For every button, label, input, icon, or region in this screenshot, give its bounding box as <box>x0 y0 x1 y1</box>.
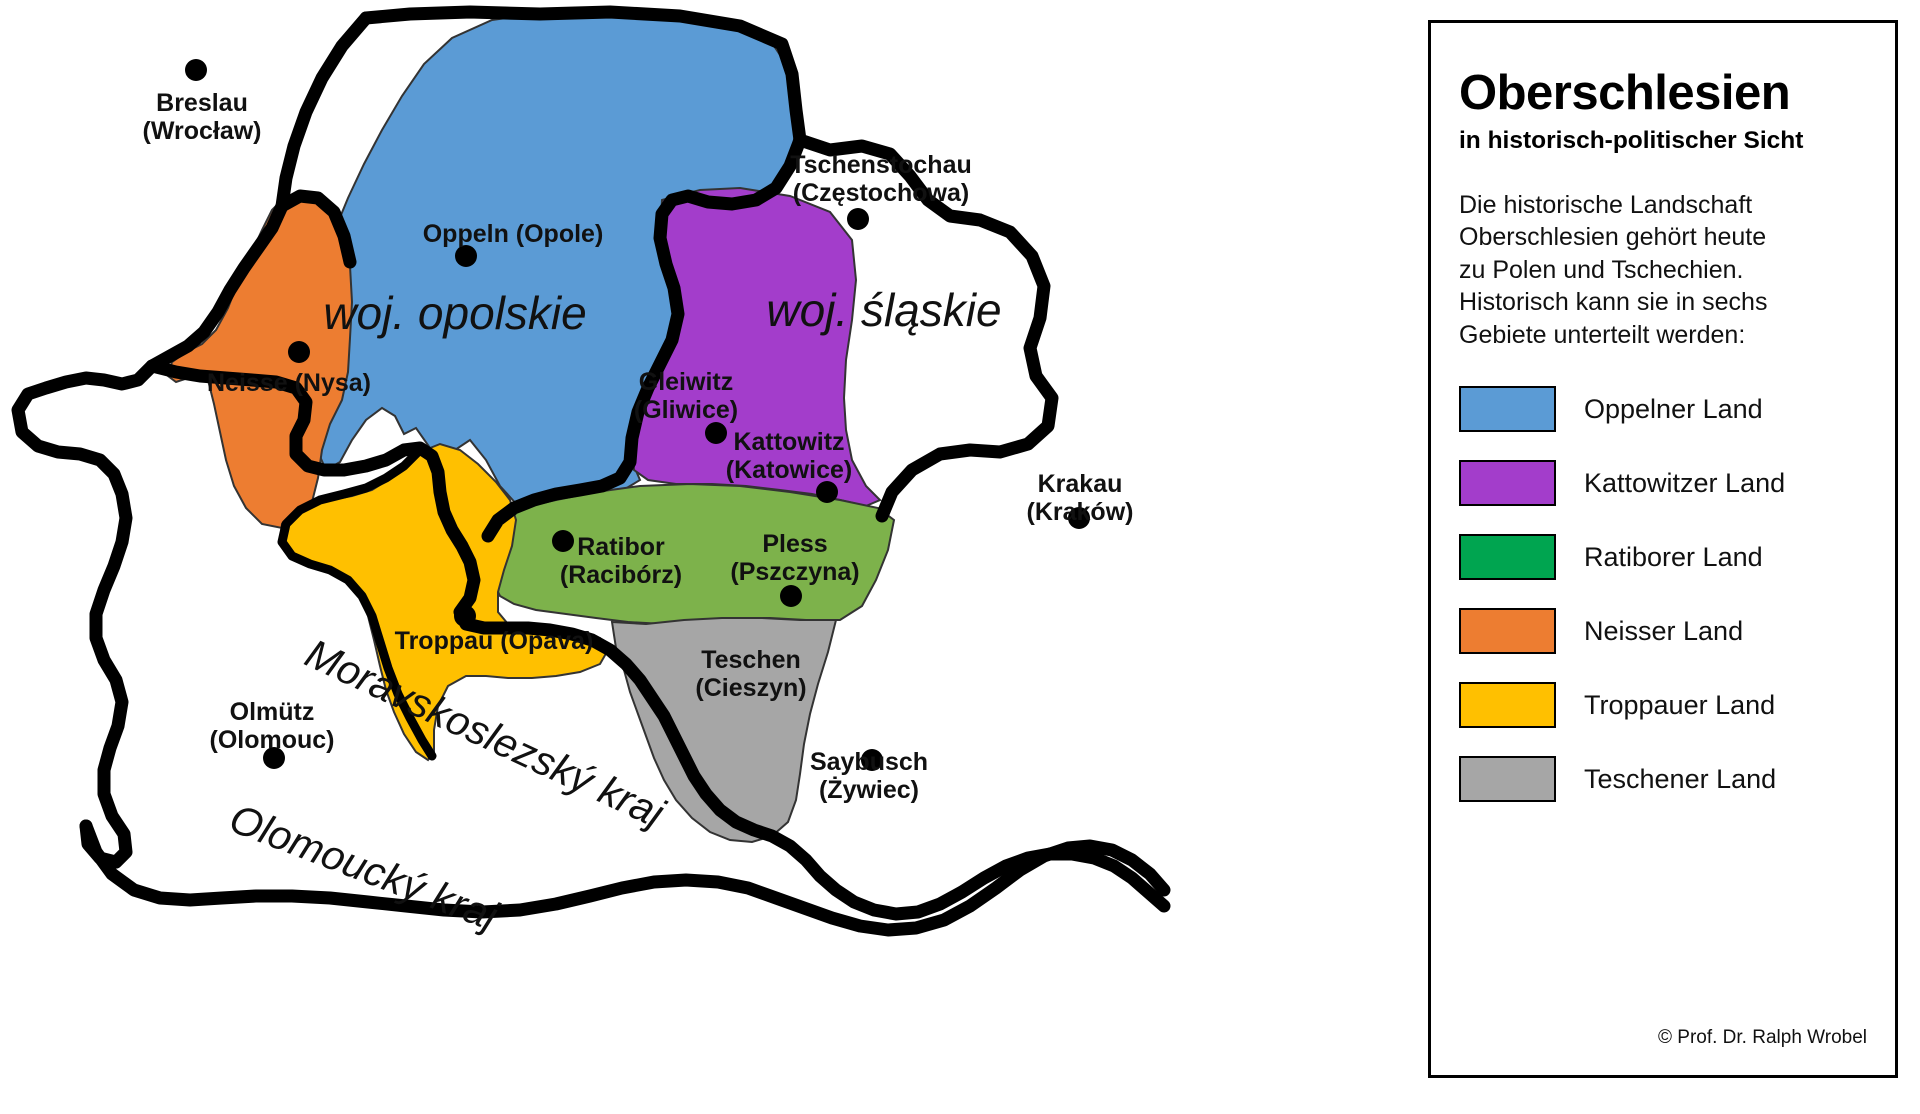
city-name-pl: (Wrocław) <box>143 117 262 145</box>
legend-title: Oberschlesien <box>1459 69 1869 118</box>
city-label-tschenstochau: Tschenstochau (Częstochowa) <box>790 151 972 207</box>
legend-item-kattowitzer-land[interactable]: Kattowitzer Land <box>1457 453 1869 513</box>
legend-item-teschener-land[interactable]: Teschener Land <box>1457 749 1869 809</box>
legend-item-label: Teschener Land <box>1584 764 1776 795</box>
region-label-slaskie: woj. śląskie <box>766 283 1001 337</box>
legend-item-ratiborer-land[interactable]: Ratiborer Land <box>1457 527 1869 587</box>
legend-swatch <box>1459 534 1556 580</box>
map-page: woj. opolskie woj. śląskie Moravskoslezs… <box>0 0 1920 1114</box>
legend-swatch <box>1459 682 1556 728</box>
copyright-notice: © Prof. Dr. Ralph Wrobel <box>1658 1027 1867 1049</box>
legend-swatch <box>1459 608 1556 654</box>
city-dot-kattowitz[interactable] <box>816 481 838 503</box>
city-name-de: Gleiwitz <box>634 368 738 396</box>
city-name-pl: (Racibórz) <box>560 561 682 589</box>
legend-item-label: Oppelner Land <box>1584 394 1763 425</box>
city-name-de: Teschen <box>695 646 806 674</box>
city-name-pl: (Pszczyna) <box>730 558 859 586</box>
city-name-pl: (Kraków) <box>1027 498 1134 526</box>
city-dot-troppau[interactable] <box>454 605 476 627</box>
map-canvas[interactable]: woj. opolskie woj. śląskie Moravskoslezs… <box>0 0 1420 1114</box>
city-dot-pless[interactable] <box>780 585 802 607</box>
region-label-opolskie: woj. opolskie <box>323 286 586 340</box>
city-name-de: Ratibor <box>560 533 682 561</box>
legend-description: Die historische Landschaft Oberschlesien… <box>1459 189 1869 352</box>
legend-item-label: Ratiborer Land <box>1584 542 1763 573</box>
legend-item-neisser-land[interactable]: Neisser Land <box>1457 601 1869 661</box>
city-label-kattowitz: Kattowitz (Katowice) <box>726 428 852 484</box>
city-name-pl: (Katowice) <box>726 456 852 484</box>
city-name-de: Neisse (Nysa) <box>207 369 371 397</box>
legend-item-label: Kattowitzer Land <box>1584 468 1785 499</box>
city-name-de: Saybusch <box>810 748 928 776</box>
legend-panel: Oberschlesien in historisch-politischer … <box>1428 20 1898 1078</box>
city-label-ratibor: Ratibor (Racibórz) <box>560 533 682 589</box>
legend-swatch <box>1459 460 1556 506</box>
city-name-pl: (Częstochowa) <box>790 179 972 207</box>
legend-description-line: Historisch kann sie in sechs <box>1459 286 1869 319</box>
city-dot-oppeln[interactable] <box>455 245 477 267</box>
city-label-breslau: Breslau (Wrocław) <box>143 89 262 145</box>
city-name-de: Pless <box>730 530 859 558</box>
city-name-de: Krakau <box>1027 470 1134 498</box>
legend-description-line: Die historische Landschaft <box>1459 189 1869 222</box>
city-name-de: Troppau (Opava) <box>395 627 594 655</box>
legend-item-troppauer-land[interactable]: Troppauer Land <box>1457 675 1869 735</box>
legend-item-label: Troppauer Land <box>1584 690 1775 721</box>
city-label-gleiwitz: Gleiwitz (Gliwice) <box>634 368 738 424</box>
city-label-saybusch: Saybusch (Żywiec) <box>810 748 928 804</box>
city-name-de: Olmütz <box>210 698 335 726</box>
city-label-krakau: Krakau (Kraków) <box>1027 470 1134 526</box>
city-name-pl: (Cieszyn) <box>695 674 806 702</box>
legend-subtitle: in historisch-politischer Sicht <box>1459 128 1869 155</box>
city-name-de: Kattowitz <box>726 428 852 456</box>
city-label-pless: Pless (Pszczyna) <box>730 530 859 586</box>
city-label-olmuetz: Olmütz (Olomouc) <box>210 698 335 754</box>
legend-swatch <box>1459 386 1556 432</box>
legend-item-oppelner-land[interactable]: Oppelner Land <box>1457 379 1869 439</box>
city-name-pl: (Gliwice) <box>634 396 738 424</box>
city-dot-neisse[interactable] <box>288 341 310 363</box>
city-name-pl: (Żywiec) <box>810 776 928 804</box>
city-label-neisse: Neisse (Nysa) <box>207 369 371 397</box>
map-graphic <box>0 0 1420 1114</box>
legend-description-line: zu Polen und Tschechien. <box>1459 254 1869 287</box>
legend-description-line: Gebiete unterteilt werden: <box>1459 319 1869 352</box>
city-name-de: Tschenstochau <box>790 151 972 179</box>
city-name-de: Breslau <box>143 89 262 117</box>
city-label-oppeln: Oppeln (Opole) <box>423 220 604 248</box>
legend-description-line: Oberschlesien gehört heute <box>1459 221 1869 254</box>
city-dot-breslau[interactable] <box>185 59 207 81</box>
city-label-troppau: Troppau (Opava) <box>395 627 594 655</box>
legend-swatch <box>1459 756 1556 802</box>
city-name-de: Oppeln (Opole) <box>423 220 604 248</box>
city-name-pl: (Olomouc) <box>210 726 335 754</box>
city-dot-tschenstochau[interactable] <box>847 208 869 230</box>
city-dot-gleiwitz[interactable] <box>705 422 727 444</box>
city-label-teschen: Teschen (Cieszyn) <box>695 646 806 702</box>
legend-item-label: Neisser Land <box>1584 616 1743 647</box>
